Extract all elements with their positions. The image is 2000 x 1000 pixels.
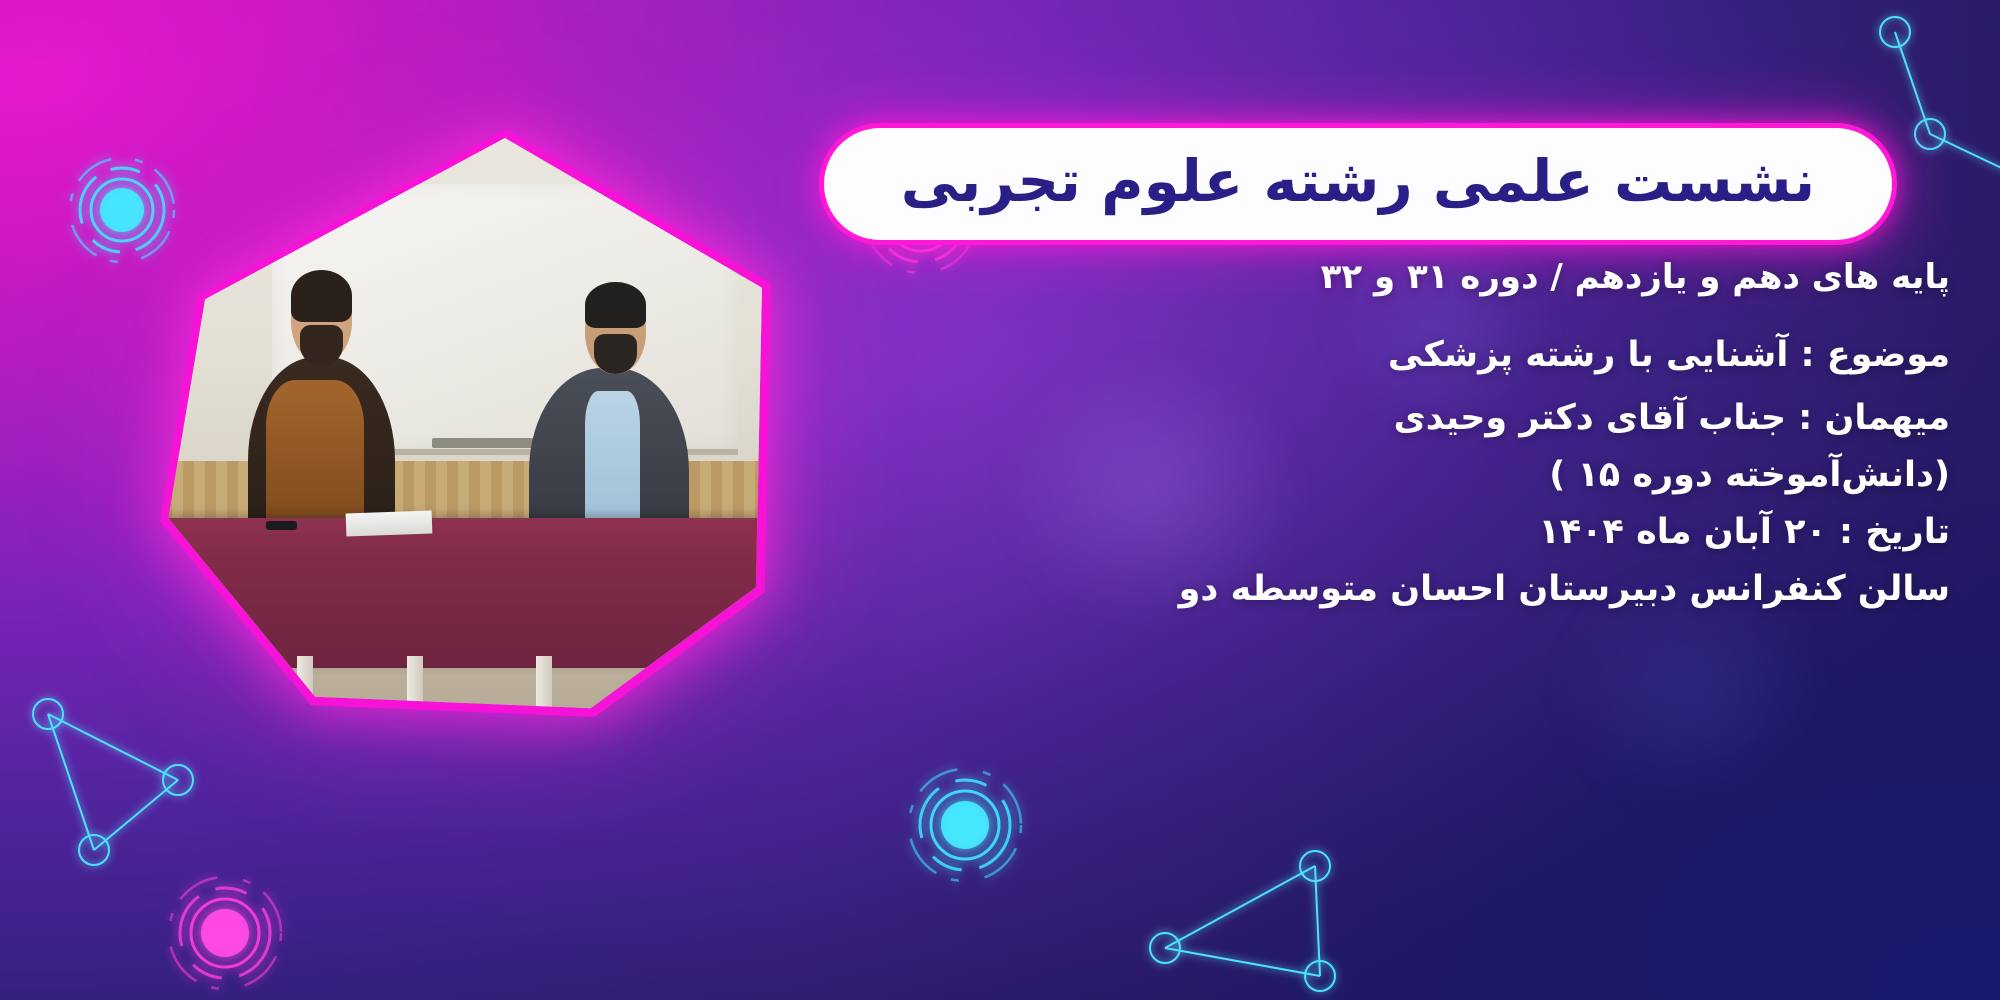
guest-line: میهمان : جناب آقای دکتر وحیدی: [830, 401, 1950, 436]
poster-canvas: نشست علمی رشته علوم تجربی پایه های دهم و…: [0, 0, 2000, 1000]
poster-title-banner: نشست علمی رشته علوم تجربی: [824, 128, 1892, 240]
poster-title: نشست علمی رشته علوم تجربی: [901, 152, 1815, 216]
photo-person-left-vest: [266, 380, 364, 530]
grades-line: پایه های دهم و یازدهم / دوره ۳۱ و ۳۲: [830, 260, 1950, 294]
photo-remote: [266, 521, 297, 530]
photo-table: [150, 518, 762, 668]
photo-person-right-beard: [594, 334, 637, 374]
photo-person-left-beard: [300, 325, 343, 365]
venue-line: سالن کنفرانس دبیرستان احسان متوسطه دو: [830, 572, 1950, 607]
photo-image: [150, 138, 762, 714]
date-line: تاریخ : ۲۰ آبان ماه ۱۴۰۴: [830, 515, 1950, 550]
photo-person-right-shirt: [585, 391, 640, 529]
constellation-bottom-right-icon: [1130, 838, 1440, 1000]
photo-person-right-hair: [585, 282, 646, 328]
alumni-line: (دانش‌آموخته دوره ۱۵ ): [830, 458, 1950, 493]
photo-papers: [345, 511, 431, 537]
photo-table-leg: [536, 656, 552, 708]
cyan-glow-ring-bottom-icon: [900, 760, 1030, 890]
photo-table-leg: [407, 656, 423, 708]
seminar-photo: [150, 138, 762, 714]
photo-person-left-hair: [291, 270, 352, 322]
subject-line: موضوع : آشنایی با رشته پزشکی: [830, 338, 1950, 373]
poster-details: پایه های دهم و یازدهم / دوره ۳۱ و ۳۲ موض…: [830, 252, 1950, 607]
